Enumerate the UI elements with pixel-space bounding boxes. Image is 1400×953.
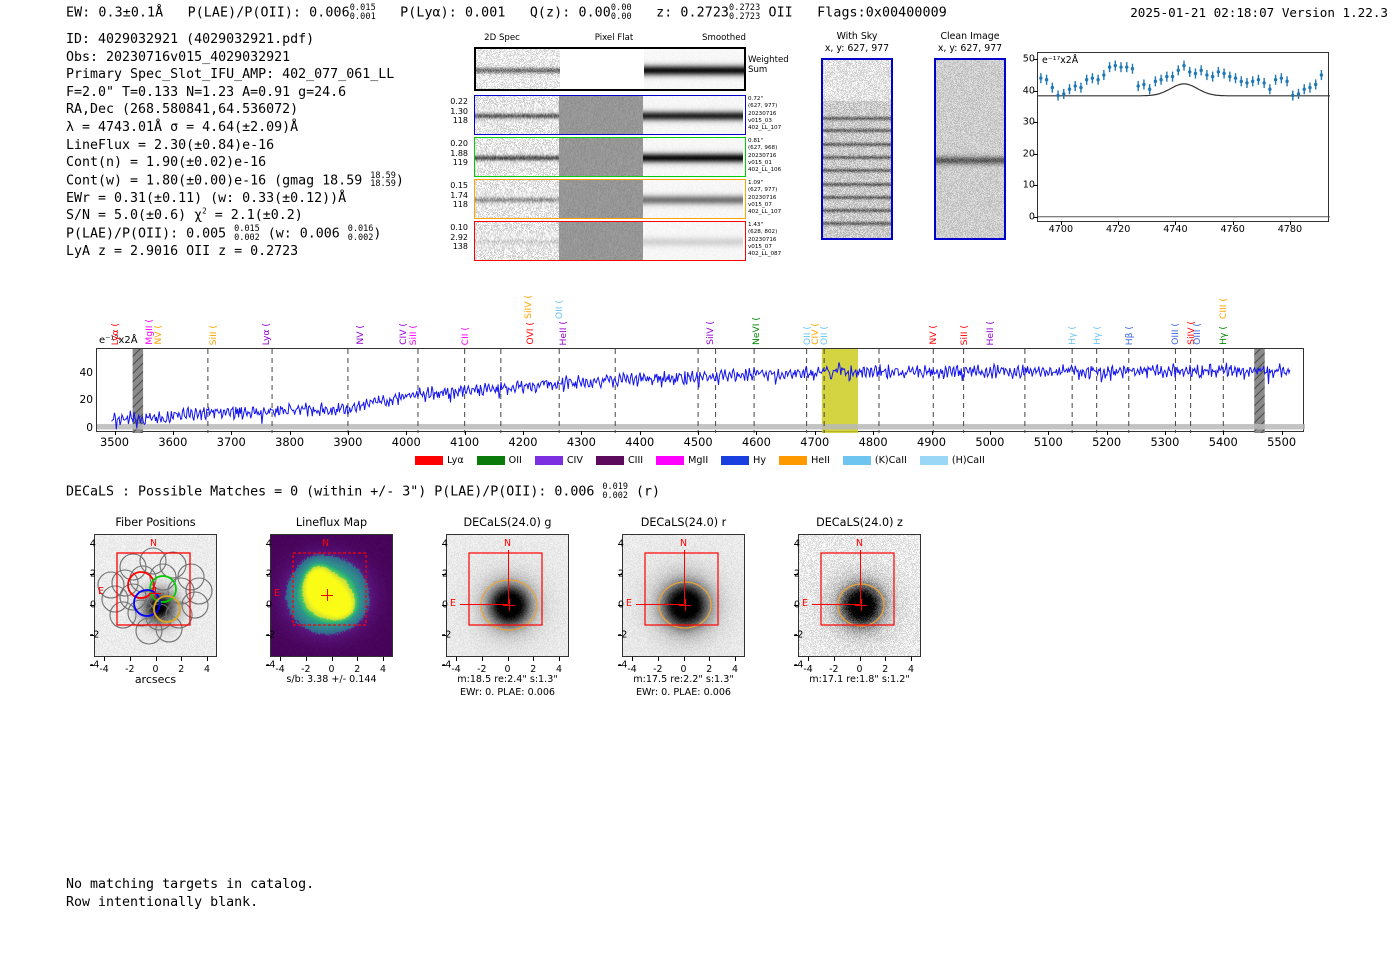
cont-w-pre: Cont(w) = 1.80(±0.00)e-16 (gmag 18.59	[66, 173, 370, 188]
tick	[523, 431, 524, 435]
panel-caption: m:17.5 re:2.2" s:1.3"	[590, 674, 777, 686]
panel-title: Fiber Positions	[62, 516, 249, 529]
emission-line-label: SiII (	[959, 325, 970, 345]
spec2d-cell	[643, 96, 743, 134]
tick	[482, 657, 483, 661]
full-spectrum-xtick: 5300	[1150, 435, 1179, 449]
legend-item: HeII	[779, 455, 830, 466]
header-plae-label: P(LAE)/P(OII): 0.006	[188, 6, 350, 21]
weighted-sum-label: WeightedSum	[748, 55, 789, 75]
spec2d-column-title: 2D Spec	[460, 33, 544, 43]
spec2d-meta: (627, 977)	[748, 187, 818, 194]
info-line: LineFlux = 2.30(±0.84)e-16	[66, 137, 404, 155]
spec2d-cell	[644, 49, 744, 89]
compass-north-line	[508, 550, 509, 604]
zoom-spectrum-chart: e⁻¹⁷x2Å 0102030405047004720474047604780	[1037, 52, 1329, 222]
tick	[332, 657, 333, 661]
data-point	[1108, 62, 1111, 72]
full-spectrum-xtick: 4800	[859, 435, 888, 449]
tick	[442, 605, 446, 606]
data-point	[1125, 62, 1128, 72]
panel-caption: EWr: 0. PLAE: 0.006	[590, 687, 777, 699]
legend-item: Lyα	[415, 455, 463, 466]
tick	[442, 574, 446, 575]
tick	[266, 665, 270, 666]
tick	[618, 605, 622, 606]
tick	[115, 431, 116, 435]
header-z-species: OII	[768, 6, 792, 21]
legend-swatch	[721, 456, 749, 465]
compass-north: N	[504, 538, 511, 549]
data-point	[1251, 76, 1254, 86]
data-point	[1085, 75, 1088, 85]
tick	[684, 657, 685, 661]
data-point	[1039, 73, 1042, 83]
footer-line-1: No matching targets in catalog.	[66, 876, 314, 894]
spec2d-meta: 0.81"	[748, 138, 818, 145]
legend-swatch	[843, 456, 871, 465]
tick	[1223, 431, 1224, 435]
data-point	[1131, 64, 1134, 74]
panel-caption: m:18.5 re:2.4" s:1.3"	[414, 674, 601, 686]
data-point	[1303, 84, 1306, 94]
compass-north: N	[150, 538, 157, 549]
emission-highlight-band	[822, 349, 858, 433]
legend-label: MgII	[688, 455, 708, 466]
full-spectrum-svg	[97, 349, 1305, 433]
tick	[406, 431, 407, 435]
tick	[173, 431, 174, 435]
tick	[990, 431, 991, 435]
emission-line-label: HeII (	[558, 321, 569, 346]
spec2d-meta: 402_LL_107	[748, 209, 818, 216]
tick	[442, 544, 446, 545]
tick	[834, 657, 835, 661]
emission-line-label: CII (	[460, 327, 471, 345]
timestamp-version: 2025-01-21 02:18:07 Version 1.22.3	[1130, 5, 1388, 20]
full-spectrum-ytick: 0	[86, 422, 93, 434]
tick	[1233, 221, 1234, 225]
tick	[1034, 185, 1038, 186]
full-spectrum-ytick: 20	[80, 394, 93, 406]
header-ew: EW: 0.3±0.1Å	[66, 6, 163, 21]
emission-line-label: NV (	[355, 325, 366, 345]
emission-line-label: OII (	[819, 326, 830, 345]
spec2d-meta: 20230716	[748, 111, 818, 118]
data-point	[1114, 61, 1117, 71]
legend-label: CIV	[567, 455, 583, 466]
legend-swatch	[920, 456, 948, 465]
full-spectrum-xtick: 5500	[1267, 435, 1296, 449]
tick	[130, 657, 131, 661]
data-point	[1096, 75, 1099, 85]
tick	[290, 431, 291, 435]
spec2d-cell	[643, 222, 743, 260]
tick	[794, 635, 798, 636]
compass-east: E	[450, 598, 456, 609]
panel-title: Lineflux Map	[238, 516, 425, 529]
emission-line-label: OVI (	[525, 322, 536, 345]
full-spectrum-xtick: 3500	[100, 435, 129, 449]
data-point	[1274, 75, 1277, 85]
spec2d-cell	[559, 222, 643, 260]
full-spectrum-xtick: 4500	[684, 435, 713, 449]
data-point	[1285, 76, 1288, 86]
tick	[794, 665, 798, 666]
spec2d-row-stats: 0.201.88119	[432, 139, 468, 168]
spec2d-row	[474, 179, 746, 219]
spec2d-stat: 119	[432, 158, 468, 168]
tick	[632, 657, 633, 661]
zoom-spectrum-xtick: 4760	[1220, 224, 1244, 235]
info-line: Primary Spec_Slot_IFU_AMP: 402_077_061_L…	[66, 66, 404, 84]
data-point	[1194, 68, 1197, 78]
spec2d-stat: 1.74	[432, 191, 468, 201]
full-spectrum-xtick: 4000	[392, 435, 421, 449]
data-point	[1142, 79, 1145, 89]
compass-east: E	[274, 588, 280, 599]
full-spectrum-xtick: 4200	[509, 435, 538, 449]
tick	[658, 657, 659, 661]
data-point	[1222, 68, 1225, 78]
header-flags: Flags:0x00400009	[817, 6, 947, 21]
full-spectrum-xtick: 4600	[742, 435, 771, 449]
tick	[1175, 221, 1176, 225]
spec2d-stat: 0.10	[432, 223, 468, 233]
header-z-label: z: 0.2723	[656, 6, 729, 21]
spec2d-stat: 2.92	[432, 233, 468, 243]
spec2d-row-meta: 1.43"(628, 802)20230716v015_07402_LL_087	[748, 222, 818, 258]
info-ewr: EWr = 0.31(±0.11) (w: 0.33(±0.12))Å	[66, 190, 404, 208]
full-spectrum-xtick: 5200	[1092, 435, 1121, 449]
data-point	[1314, 79, 1317, 89]
tick	[90, 544, 94, 545]
data-point	[1217, 67, 1220, 77]
spec2d-cell	[559, 180, 643, 218]
tick	[618, 665, 622, 666]
tick	[1118, 221, 1119, 225]
tick	[756, 431, 757, 435]
info-line: F=2.0" T=0.133 N=1.23 A=0.91 g=24.6	[66, 84, 404, 102]
panel-caption: s/b: 3.38 +/- 0.144	[238, 674, 425, 686]
data-point	[1268, 84, 1271, 94]
tick	[207, 657, 208, 661]
decals-header: DECaLS : Possible Matches = 0 (within +/…	[66, 483, 660, 500]
tick	[306, 657, 307, 661]
data-point	[1159, 75, 1162, 85]
tick	[860, 657, 861, 661]
spec2d-stat: 1.88	[432, 149, 468, 159]
crosshair-marker	[95, 535, 216, 656]
tick	[709, 657, 710, 661]
tick	[873, 431, 874, 435]
legend-item: CIII	[596, 455, 643, 466]
emission-line-label: Hγ (	[1218, 326, 1229, 345]
spec2d-weighted-sum-row	[474, 47, 746, 91]
legend-label: OII	[509, 455, 522, 466]
data-point	[1240, 76, 1243, 86]
tick	[266, 544, 270, 545]
data-point	[1199, 65, 1202, 75]
cutout-title-line: With Sky	[812, 31, 902, 43]
full-spectrum-xtick: 3600	[158, 435, 187, 449]
tick	[231, 431, 232, 435]
tick	[90, 605, 94, 606]
zoom-spectrum-xtick: 4780	[1278, 224, 1302, 235]
spec2d-row-meta: 0.81"(627, 968)20230716v015_01402_LL_106	[748, 138, 818, 174]
spec2d-stat: 118	[432, 200, 468, 210]
tick	[266, 605, 270, 606]
compass-north-line	[684, 550, 685, 604]
spec2d-meta: (627, 968)	[748, 145, 818, 152]
tick	[383, 657, 384, 661]
spec2d-cell	[559, 96, 643, 134]
info-line: Obs: 20230716v015_4029032921	[66, 49, 404, 67]
info-cont-w: Cont(w) = 1.80(±0.00)e-16 (gmag 18.59 18…	[66, 172, 404, 190]
spec2d-cell	[559, 138, 643, 176]
panel-caption: EWr: 0. PLAE: 0.006	[414, 687, 601, 699]
masked-band	[1254, 349, 1265, 433]
tick	[104, 657, 105, 661]
tick	[1034, 91, 1038, 92]
emission-line-label: Hγ (	[1067, 326, 1078, 345]
data-point	[1257, 75, 1260, 85]
emission-line-label: OII (	[554, 300, 565, 319]
tick	[808, 657, 809, 661]
legend-swatch	[535, 456, 563, 465]
spec2d-meta: 402_LL_107	[748, 125, 818, 132]
tick	[156, 657, 157, 661]
full-spectrum-xtick: 5100	[1034, 435, 1063, 449]
emission-line-label: Lyα (	[261, 323, 272, 345]
panel-title: DECaLS(24.0) g	[414, 516, 601, 529]
cutout-title: Clean Imagex, y: 627, 977	[925, 31, 1015, 54]
zoom-spectrum-xtick: 4700	[1049, 224, 1073, 235]
tick	[885, 657, 886, 661]
full-spectrum-ytick: 40	[80, 367, 93, 379]
spec2d-stat: 0.15	[432, 181, 468, 191]
spec2d-meta: 20230716	[748, 153, 818, 160]
tick	[1107, 431, 1108, 435]
tick	[794, 574, 798, 575]
tick	[456, 657, 457, 661]
tick	[735, 657, 736, 661]
tick	[1282, 431, 1283, 435]
spec2d-meta: v015_01	[748, 160, 818, 167]
legend-swatch	[415, 456, 443, 465]
emission-line-label: NV (	[153, 325, 164, 345]
spec2d-meta: (628, 802)	[748, 229, 818, 236]
data-point	[1148, 84, 1151, 94]
spec2d-meta: (627, 977)	[748, 103, 818, 110]
cutout-image	[934, 58, 1006, 240]
sn-value: S/N = 5.0(±0.6)	[66, 208, 194, 223]
footer-note: No matching targets in catalog. Row inte…	[66, 876, 314, 911]
data-point	[1074, 81, 1077, 91]
legend-item: (K)CaII	[843, 455, 907, 466]
data-point	[1234, 73, 1237, 83]
header-plya: P(Lyα): 0.001	[400, 6, 505, 21]
full-spectrum-xtick: 4700	[800, 435, 829, 449]
tick	[911, 657, 912, 661]
header-plae-lo: 0.001	[350, 12, 376, 22]
compass-east: E	[626, 598, 632, 609]
spec2d-column-title: Smoothed	[682, 33, 766, 43]
tick	[932, 431, 933, 435]
full-spectrum-xtick: 5000	[975, 435, 1004, 449]
info-redshifts: LyA z = 2.9016 OII z = 0.2723	[66, 243, 404, 261]
header-qz-label: Q(z): 0.00	[530, 6, 611, 21]
legend-label: CIII	[628, 455, 643, 466]
data-point	[1154, 76, 1157, 86]
spec2d-cell	[643, 180, 743, 218]
panel-image	[94, 534, 217, 657]
tick	[698, 431, 699, 435]
panel-title: DECaLS(24.0) r	[590, 516, 777, 529]
spec2d-meta: v015_07	[748, 202, 818, 209]
tick	[618, 635, 622, 636]
data-point	[1245, 78, 1248, 88]
compass-north-line	[860, 550, 861, 604]
emission-line-label: HeII (	[985, 321, 996, 346]
full-spectrum-chart: e⁻¹⁷x2Å LyαOIICIVCIIIMgIIHyHeII(K)CaII(H…	[96, 348, 1304, 432]
emission-line-label: NV (	[928, 325, 939, 345]
data-point	[1177, 65, 1180, 75]
data-point	[1280, 73, 1283, 83]
cutout-title-line: Clean Image	[925, 31, 1015, 43]
tick	[1034, 154, 1038, 155]
spec2d-meta: v015_07	[748, 244, 818, 251]
spec2d-meta: v015_03	[748, 118, 818, 125]
full-spectrum-xtick: 3900	[333, 435, 362, 449]
data-point	[1205, 70, 1208, 80]
header-z-lo: 0.2723	[729, 12, 760, 22]
tick	[266, 574, 270, 575]
data-point	[1211, 72, 1214, 82]
full-spectrum-xtick: 4100	[450, 435, 479, 449]
spectrum-legend: LyαOIICIVCIIIMgIIHyHeII(K)CaII(H)CaII	[97, 455, 1303, 466]
plae-w-lo: 0.002	[348, 233, 374, 243]
spec2d-stat: 138	[432, 242, 468, 252]
decals-header-post: (r)	[628, 485, 660, 500]
emission-line-label: Hβ (	[1124, 326, 1135, 345]
emission-line-label: OIII (	[1192, 323, 1203, 345]
data-point	[1056, 90, 1059, 100]
noise-band	[97, 424, 1305, 429]
data-point	[1228, 72, 1231, 82]
tick	[266, 635, 270, 636]
data-point	[1068, 84, 1071, 94]
cont-w-lo: 18.59	[370, 179, 396, 189]
spec2d-meta: 20230716	[748, 237, 818, 244]
header-qz-lo: 0.00	[611, 12, 632, 22]
spectrum-trace	[112, 362, 1290, 429]
compass-east-line	[636, 604, 684, 605]
legend-item: CIV	[535, 455, 583, 466]
tick	[794, 605, 798, 606]
legend-swatch	[477, 456, 505, 465]
spec2d-stat: 0.20	[432, 139, 468, 149]
panel-caption: m:17.1 re:1.8" s:1.2"	[766, 674, 953, 686]
spec2d-column-title: Pixel Flat	[572, 33, 656, 43]
full-spectrum-xtick: 4300	[567, 435, 596, 449]
spec2d-cell	[560, 49, 644, 89]
full-spectrum-xtick: 3800	[275, 435, 304, 449]
compass-north: N	[856, 538, 863, 549]
info-line: ID: 4029032921 (4029032921.pdf)	[66, 31, 404, 49]
spec2d-stat: 118	[432, 116, 468, 126]
tick	[618, 544, 622, 545]
cont-w-post: )	[396, 173, 404, 188]
tick	[1048, 431, 1049, 435]
panel-image	[270, 534, 393, 657]
tick	[280, 657, 281, 661]
data-point	[1045, 75, 1048, 85]
legend-swatch	[596, 456, 624, 465]
spec2d-meta: 402_LL_106	[748, 167, 818, 174]
info-plae: P(LAE)/P(OII): 0.005 0.0150.002 (w: 0.00…	[66, 225, 404, 243]
spec2d-meta: 0.72"	[748, 96, 818, 103]
data-point	[1091, 73, 1094, 83]
tick	[1034, 122, 1038, 123]
tick	[90, 665, 94, 666]
legend-swatch	[656, 456, 684, 465]
legend-label: Lyα	[447, 455, 463, 466]
legend-item: MgII	[656, 455, 708, 466]
tick	[1165, 431, 1166, 435]
legend-label: HeII	[811, 455, 830, 466]
emission-line-label: NeVI (	[751, 317, 762, 345]
tick	[465, 431, 466, 435]
emission-line-label: SiIV (	[523, 295, 534, 319]
zoom-spectrum-xtick: 4740	[1163, 224, 1187, 235]
emission-line-label: SiII (	[408, 325, 419, 345]
plae-pre: P(LAE)/P(OII): 0.005	[66, 227, 234, 242]
zoom-spectrum-svg	[1038, 53, 1330, 223]
plae-post: )	[373, 227, 381, 242]
data-point	[1297, 89, 1300, 99]
full-spectrum-xtick: 5400	[1209, 435, 1238, 449]
panel-xlabel: arcsecs	[62, 674, 249, 686]
spec2d-row	[474, 137, 746, 177]
tick	[1290, 221, 1291, 225]
data-point	[1119, 62, 1122, 72]
spec2d-row	[474, 221, 746, 261]
data-point	[1291, 90, 1294, 100]
data-point	[1136, 81, 1139, 91]
tick	[442, 635, 446, 636]
cutout-coords: x, y: 627, 977	[812, 43, 902, 55]
panel-title: DECaLS(24.0) z	[766, 516, 953, 529]
compass-east-line	[460, 604, 508, 605]
legend-label: Hy	[753, 455, 766, 466]
tick	[357, 657, 358, 661]
compass-east: E	[802, 598, 808, 609]
tick	[618, 574, 622, 575]
summary-header: EW: 0.3±0.1Å P(LAE)/P(OII): 0.0060.0150.…	[66, 4, 947, 21]
data-point	[1051, 83, 1054, 93]
spec2d-cell	[475, 138, 559, 176]
tick	[640, 431, 641, 435]
spec2d-meta: 1.43"	[748, 222, 818, 229]
tick	[90, 635, 94, 636]
legend-item: OII	[477, 455, 522, 466]
chi2-value: = 2.1(±0.2)	[207, 208, 303, 223]
tick	[1034, 59, 1038, 60]
tick	[559, 657, 560, 661]
spec2d-cell	[475, 180, 559, 218]
spec2d-row	[474, 95, 746, 135]
